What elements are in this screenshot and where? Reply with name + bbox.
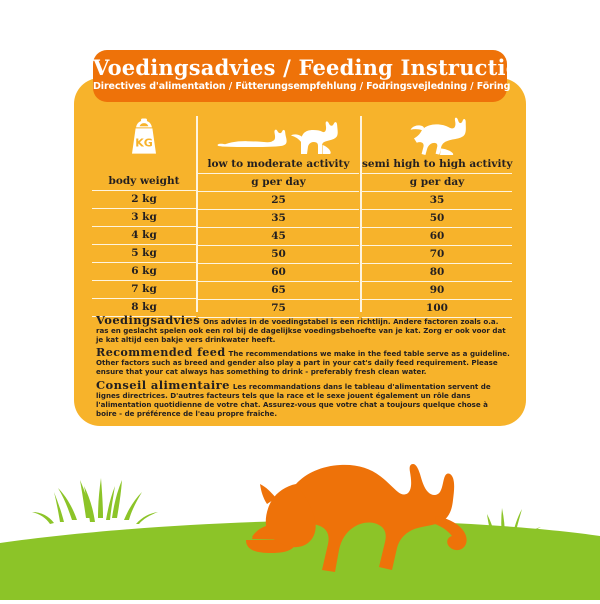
table-cell-high: 50 bbox=[362, 210, 512, 228]
column-activity-label-low: low to moderate activity bbox=[198, 156, 359, 174]
column-unit-label-weight: body weight bbox=[92, 173, 196, 191]
illustration-scene bbox=[0, 430, 600, 600]
table-cell-weight: 3 kg bbox=[92, 209, 196, 227]
table-cell-high: 60 bbox=[362, 228, 512, 246]
header-banner: Voedingsadvies / Feeding Instruction Dir… bbox=[93, 50, 507, 102]
table-cell-low: 35 bbox=[198, 210, 359, 228]
grass-tuft-icon bbox=[32, 478, 158, 524]
running-cat-icon bbox=[362, 116, 512, 156]
column-unit-label-high: g per day bbox=[362, 174, 512, 192]
table-cell-low: 65 bbox=[198, 282, 359, 300]
kg-weight-icon: KG bbox=[92, 118, 196, 156]
note-heading-english: Recommended feed bbox=[96, 345, 226, 359]
svg-text:KG: KG bbox=[135, 136, 153, 149]
note-heading-french: Conseil alimentaire bbox=[96, 378, 230, 392]
table-cell-low: 60 bbox=[198, 264, 359, 282]
kg-weight-icon-cell: KG bbox=[92, 112, 196, 156]
table-column-high-activity: semi high to high activity g per day 35 … bbox=[362, 112, 512, 318]
note-dutch: VoedingsadviesOns advies in de voedingst… bbox=[96, 316, 510, 344]
table-cell-weight: 4 kg bbox=[92, 227, 196, 245]
table-cell-weight: 6 kg bbox=[92, 263, 196, 281]
note-english: Recommended feedThe recommendations we m… bbox=[96, 348, 510, 376]
table-cell-high: 70 bbox=[362, 246, 512, 264]
table-cell-high: 35 bbox=[362, 192, 512, 210]
table-column-low-activity: low to moderate activity g per day 25 35… bbox=[198, 112, 359, 318]
table-cell-weight: 5 kg bbox=[92, 245, 196, 263]
table-column-body-weight: KG body weight 2 kg 3 kg 4 kg 5 kg 6 kg … bbox=[92, 112, 196, 317]
lying-and-standing-cat-icon bbox=[198, 116, 359, 156]
column-activity-label-high: semi high to high activity bbox=[362, 156, 512, 174]
lying-and-standing-cat-icon-cell bbox=[198, 112, 359, 156]
table-cell-weight: 7 kg bbox=[92, 281, 196, 299]
table-cell-high: 80 bbox=[362, 264, 512, 282]
page-subtitle: Directives d'alimentation / Fütterungsem… bbox=[93, 81, 507, 92]
table-cell-low: 45 bbox=[198, 228, 359, 246]
running-cat-icon-cell bbox=[362, 112, 512, 156]
notes-section: VoedingsadviesOns advies in de voedingst… bbox=[96, 316, 510, 422]
note-french: Conseil alimentaireLes recommandations d… bbox=[96, 381, 510, 418]
table-cell-high: 90 bbox=[362, 282, 512, 300]
feeding-instruction-infographic: Voedingsadvies / Feeding Instruction Dir… bbox=[0, 0, 600, 600]
column-unit-label-low: g per day bbox=[198, 174, 359, 192]
table-cell-low: 25 bbox=[198, 192, 359, 210]
table-cell-low: 50 bbox=[198, 246, 359, 264]
table-cell-weight: 2 kg bbox=[92, 191, 196, 209]
note-heading-dutch: Voedingsadvies bbox=[96, 313, 200, 327]
page-title: Voedingsadvies / Feeding Instruction bbox=[93, 55, 507, 80]
feeding-table: KG body weight 2 kg 3 kg 4 kg 5 kg 6 kg … bbox=[92, 112, 512, 312]
